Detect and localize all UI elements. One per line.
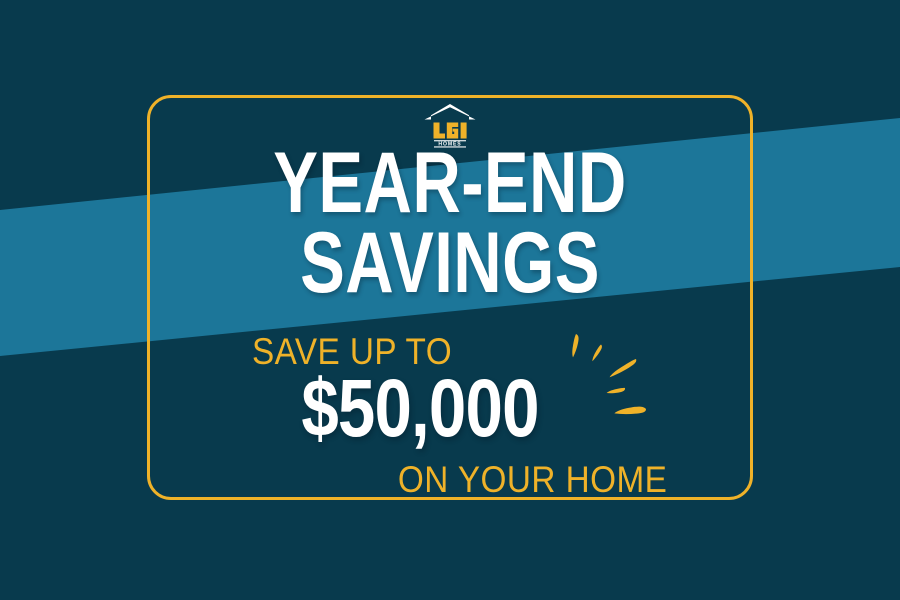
savings-amount: $50,000 (260, 368, 580, 450)
headline-line-1: YEAR-END (99, 141, 801, 225)
headline-block: YEAR-END SAVINGS (0, 141, 900, 306)
headline-line-2: SAVINGS (99, 221, 801, 305)
roof-icon (425, 104, 476, 120)
promo-banner: HOMES YEAR-END SAVINGS SAVE UP TO $50,00… (0, 0, 900, 600)
on-your-home-label: ON YOUR HOME (398, 461, 667, 498)
offer-block: SAVE UP TO $50,000 ON YOUR HOME (225, 333, 675, 498)
